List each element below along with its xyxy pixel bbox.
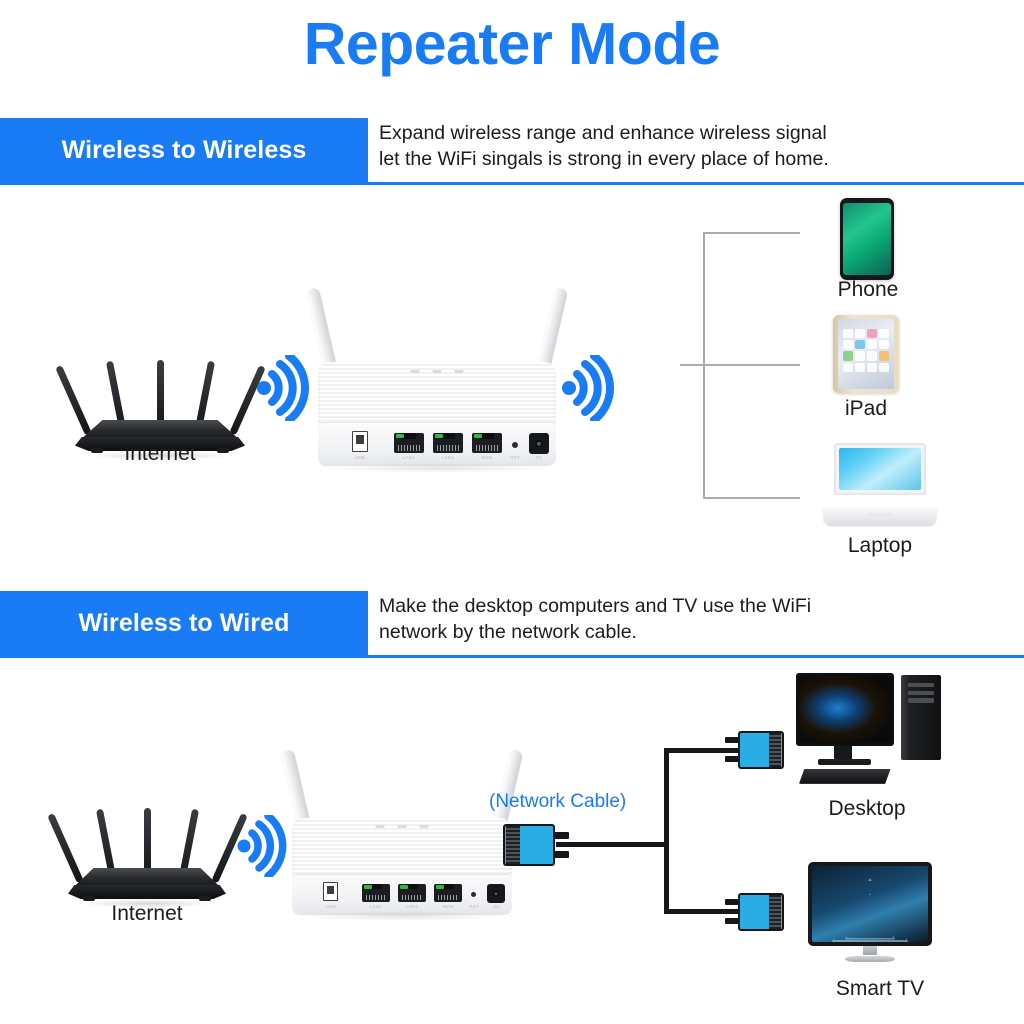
- repeater-port-panel: USB LAN1 LAN2 WAN RST DC: [318, 422, 556, 466]
- led-indicator: [376, 825, 385, 828]
- port-label-dc: DC: [483, 904, 511, 909]
- section-description-line-2: let the WiFi singals is strong in every …: [379, 146, 1009, 172]
- section-header-wireless-to-wired: Wireless to Wired Make the desktop compu…: [0, 591, 1024, 658]
- tv-screen: [812, 866, 928, 942]
- internet-router-icon-top: [75, 310, 245, 460]
- port-led: [436, 885, 443, 889]
- section-divider-rule: [0, 655, 1024, 658]
- port-label-lan1: LAN1: [395, 455, 423, 460]
- port-label-wan: WAN: [434, 904, 462, 909]
- led-indicator: [420, 825, 429, 828]
- tower-drive-bay: [908, 698, 934, 702]
- phone-icon: [840, 198, 894, 280]
- dc-power-port: [487, 884, 505, 903]
- port-led: [435, 434, 443, 438]
- rj45-pin-tab: [725, 737, 740, 743]
- port-pins: [438, 895, 458, 900]
- ipad-app-grid: [843, 329, 889, 372]
- tv-frame: [808, 862, 932, 946]
- smart-tv-icon: [808, 862, 932, 972]
- tv-stand-neck: [863, 946, 878, 956]
- port-pins: [366, 895, 386, 900]
- bracket-branch-middle: [680, 364, 800, 366]
- wifi-signal-icon-right-top: [561, 355, 623, 426]
- reset-button[interactable]: [512, 442, 518, 448]
- desktop-monitor-screen: [799, 676, 891, 743]
- desktop-monitor: [796, 673, 894, 746]
- cable-horizontal-main: [556, 842, 668, 847]
- port-label-lan2: LAN2: [434, 455, 462, 460]
- tower-drive-bay: [908, 691, 934, 695]
- repeater-shadow: [301, 911, 503, 921]
- wan-port: [472, 433, 502, 453]
- laptop-icon: [824, 443, 936, 525]
- desktop-computer-icon: [793, 673, 941, 791]
- rj45-pin-tab: [725, 918, 740, 924]
- label-laptop: Laptop: [812, 535, 948, 556]
- port-label-usb: USB: [317, 904, 345, 909]
- label-smart-tv: Smart TV: [806, 978, 954, 999]
- repeater-router-icon-bottom: USB LAN1 LAN2 WAN RST DC: [292, 748, 512, 916]
- port-pins: [476, 445, 498, 450]
- port-pins: [437, 445, 459, 450]
- desktop-tower: [901, 675, 941, 760]
- laptop-trackpad: [867, 513, 894, 519]
- port-led: [396, 434, 404, 438]
- port-pins: [398, 445, 420, 450]
- desktop-monitor-base: [818, 759, 871, 765]
- tv-stand-base: [845, 956, 895, 963]
- port-label-lan2: LAN2: [398, 904, 426, 909]
- label-desktop: Desktop: [793, 798, 941, 819]
- repeater-shadow: [328, 463, 547, 473]
- port-pins: [402, 895, 422, 900]
- cable-branch-to-smarttv: [664, 909, 744, 914]
- led-indicator: [455, 370, 464, 373]
- port-led: [364, 885, 371, 889]
- led-indicator: [398, 825, 407, 828]
- section-description-line-1: Expand wireless range and enhance wirele…: [379, 120, 1009, 146]
- laptop-base: [824, 507, 936, 525]
- desktop-keyboard: [799, 769, 891, 784]
- rj45-pin-tab: [553, 832, 569, 839]
- laptop-screen: [839, 448, 921, 490]
- lan1-port: [362, 884, 390, 902]
- router-body: [68, 868, 226, 902]
- rj45-connector-smarttv: [738, 893, 784, 931]
- tower-drive-bay: [908, 683, 934, 687]
- label-internet-top: Internet: [75, 443, 245, 464]
- phone-screen: [843, 203, 891, 275]
- led-indicator: [411, 370, 420, 373]
- internet-router-icon-bottom: [68, 768, 226, 908]
- wan-port: [434, 884, 462, 902]
- repeater-port-panel: USB LAN1 LAN2 WAN RST DC: [292, 874, 512, 915]
- lan2-port: [398, 884, 426, 902]
- repeater-led-indicators: [376, 825, 429, 828]
- section-header-wireless-to-wireless: Wireless to Wireless Expand wireless ran…: [0, 118, 1024, 185]
- lan2-port: [433, 433, 463, 453]
- section-description-wireless-to-wired: Make the desktop computers and TV use th…: [379, 591, 1009, 645]
- ipad-icon: [833, 315, 899, 393]
- cable-branch-to-desktop: [664, 748, 744, 753]
- rj45-connector-router: [503, 824, 555, 866]
- ipad-screen: [838, 319, 894, 389]
- port-led: [400, 885, 407, 889]
- usb-port: [352, 431, 368, 452]
- repeater-top-shell: [292, 818, 512, 880]
- rj45-pin-tab: [725, 899, 740, 905]
- port-label-lan1: LAN1: [362, 904, 390, 909]
- bracket-branch-top: [703, 232, 800, 234]
- bracket-branch-bottom: [703, 497, 800, 499]
- lan1-port: [394, 433, 424, 453]
- port-label-usb: USB: [346, 455, 374, 460]
- wifi-signal-icon-left-top: [256, 355, 318, 426]
- repeater-led-indicators: [411, 370, 464, 373]
- wifi-signal-icon-bottom: [237, 815, 295, 882]
- rj45-connector-desktop: [738, 731, 784, 769]
- port-label-wan: WAN: [473, 455, 501, 460]
- section-divider-rule: [0, 182, 1024, 185]
- laptop-lid: [834, 443, 926, 495]
- led-indicator: [433, 370, 442, 373]
- section-description-line-2: network by the network cable.: [379, 619, 1009, 645]
- section-tag-wireless-to-wired: Wireless to Wired: [0, 591, 368, 655]
- section-description-line-1: Make the desktop computers and TV use th…: [379, 593, 1009, 619]
- port-label-dc: DC: [525, 455, 553, 460]
- rj45-pin-tab: [725, 756, 740, 762]
- repeater-router-icon-top: USB LAN1 LAN2 WAN RST DC: [318, 286, 556, 468]
- network-cable-label: (Network Cable): [489, 791, 626, 813]
- section-tag-wireless-to-wireless: Wireless to Wireless: [0, 118, 368, 182]
- rj45-ribs: [506, 826, 520, 865]
- port-led: [474, 434, 482, 438]
- page-title: Repeater Mode: [0, 14, 1024, 76]
- rj45-ribs: [769, 895, 781, 930]
- dc-power-port: [529, 433, 549, 454]
- rj45-ribs: [769, 733, 781, 768]
- usb-port: [323, 882, 338, 901]
- repeater-mode-infographic: Repeater Mode Wireless to Wireless Expan…: [0, 0, 1024, 1024]
- section-description-wireless-to-wireless: Expand wireless range and enhance wirele…: [379, 118, 1009, 172]
- repeater-top-shell: [318, 362, 556, 428]
- label-ipad: iPad: [798, 398, 934, 419]
- reset-button[interactable]: [471, 892, 476, 897]
- rj45-pin-tab: [553, 851, 569, 858]
- label-phone: Phone: [800, 279, 936, 300]
- cable-vertical-trunk: [664, 748, 669, 914]
- label-internet-bottom: Internet: [68, 903, 226, 924]
